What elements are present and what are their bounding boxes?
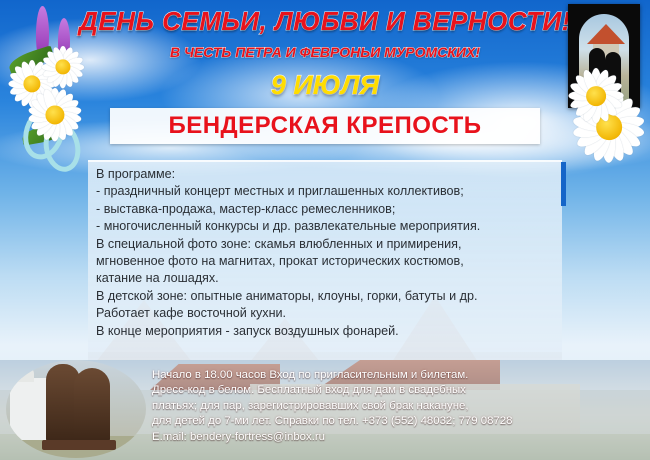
program-item: В детской зоне: опытные аниматоры, клоун… — [96, 288, 556, 305]
daisy-flower — [40, 44, 86, 90]
daisy-center — [586, 86, 606, 106]
program-item: - выставка-продажа, мастер-класс ремесле… — [96, 201, 556, 218]
event-date: 9 ИЮЛЯ — [0, 70, 650, 101]
venue-banner: БЕНДЕРСКАЯ КРЕПОСТЬ — [110, 108, 540, 144]
poster-subtitle: В ЧЕСТЬ ПЕТРА И ФЕВРОНЬИ МУРОМСКИХ! — [0, 44, 650, 60]
venue-name: БЕНДЕРСКАЯ КРЕПОСТЬ — [168, 112, 481, 140]
statue-pedestal — [42, 440, 116, 450]
program-item: В конце мероприятия - запуск воздушных ф… — [96, 323, 556, 340]
program-item: В специальной фото зоне: скамья влюбленн… — [96, 236, 556, 253]
program-item: Работает кафе восточной кухни. — [96, 305, 556, 322]
footer-line: Начало в 18.00 часов Вход по пригласител… — [152, 368, 644, 383]
program-item: - многочисленный конкурсы и др. развлека… — [96, 218, 556, 235]
daisy-flower — [26, 86, 84, 144]
statue-figure — [74, 368, 110, 442]
poster-title: ДЕНЬ СЕМЬИ, ЛЮБВИ И ВЕРНОСТИ! — [0, 6, 650, 37]
footer-line: платьях; для пар, зарегистрировавших сво… — [152, 399, 644, 414]
daisy-flower-inset — [566, 66, 626, 126]
program-heading: В программе: — [96, 166, 556, 183]
peter-and-fevronia-statue — [6, 360, 146, 458]
tower-roof — [587, 24, 625, 44]
church-dome — [18, 366, 34, 382]
footer-details: Начало в 18.00 часов Вход по пригласител… — [152, 368, 644, 445]
program-lines: В программе: - праздничный концерт местн… — [96, 166, 556, 340]
program-item: катание на лошадях. — [96, 270, 556, 287]
footer-line: Дресс-код в белом. Бесплатный вход для д… — [152, 383, 644, 398]
program-item: - праздничный концерт местных и приглаше… — [96, 183, 556, 200]
footer-line-email: E.mail: bendery-fortress@inbox.ru — [152, 430, 644, 445]
program-item: мгновенное фото на магнитах, прокат исто… — [96, 253, 556, 270]
program-panel: В программе: - праздничный концерт местн… — [88, 160, 562, 362]
panel-accent-edge — [561, 162, 566, 206]
event-poster: ДЕНЬ СЕМЬИ, ЛЮБВИ И ВЕРНОСТИ! В ЧЕСТЬ ПЕ… — [0, 0, 650, 460]
footer-line-phone: для детей до 7-ми лет. Справки по тел. +… — [152, 414, 644, 429]
